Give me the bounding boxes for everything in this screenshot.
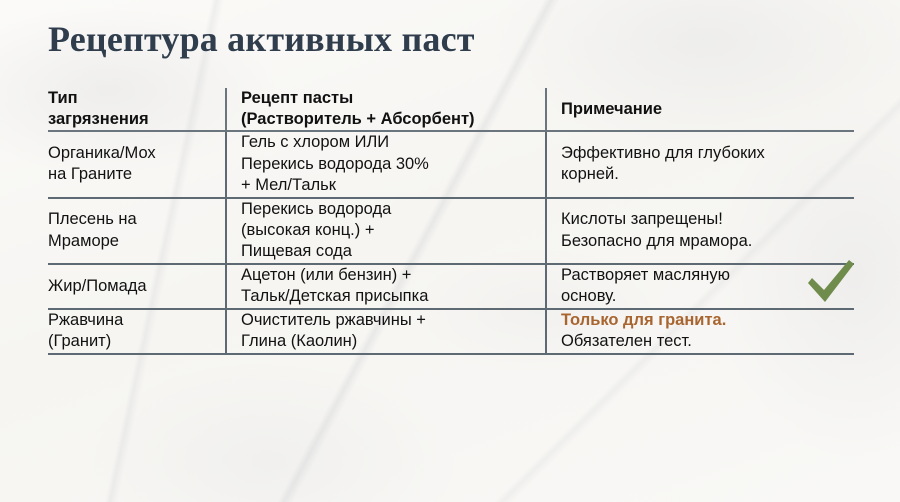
column-header-type-line1: Тип (48, 88, 211, 109)
cell-type: Плесень на Мраморе (48, 198, 226, 264)
cell-recipe: Очиститель ржавчины + Глина (Каолин) (226, 309, 546, 354)
recipes-table: Тип загрязнения Рецепт пасты (Растворите… (48, 88, 854, 355)
cell-recipe: Ацетон (или бензин) + Тальк/Детская прис… (226, 264, 546, 309)
table-header-row: Тип загрязнения Рецепт пасты (Растворите… (48, 88, 854, 131)
page-title: Рецептура активных паст (48, 18, 475, 60)
column-header-type: Тип загрязнения (48, 88, 226, 131)
cell-recipe: Перекись водорода (высокая конц.) + Пище… (226, 198, 546, 264)
column-header-type-line2: загрязнения (48, 109, 211, 130)
cell-note-line2: корней. (561, 164, 840, 185)
cell-type-line2: на Граните (48, 164, 211, 185)
cell-note-line2: основу. (561, 286, 840, 307)
column-header-note-line1: Примечание (561, 99, 840, 120)
table-header: Тип загрязнения Рецепт пасты (Растворите… (48, 88, 854, 131)
cell-note: Только для гранита. Обязателен тест. (546, 309, 854, 354)
table-row: Плесень на Мраморе Перекись водорода (вы… (48, 198, 854, 264)
column-header-note: Примечание (546, 88, 854, 131)
column-header-recipe-line1: Рецепт пасты (241, 88, 531, 109)
cell-type-line1: Ржавчина (48, 310, 211, 331)
cell-recipe-line2: Глина (Каолин) (241, 331, 531, 352)
cell-recipe-line2: Перекись водорода 30% (241, 154, 531, 175)
cell-recipe-line1: Ацетон (или бензин) + (241, 265, 531, 286)
column-header-recipe-line2: (Растворитель + Абсорбент) (241, 109, 531, 130)
cell-note-line2: Безопасно для мрамора. (561, 231, 840, 252)
cell-type-line1: Жир/Помада (48, 276, 211, 297)
cell-type: Ржавчина (Гранит) (48, 309, 226, 354)
cell-type-line1: Органика/Мох (48, 143, 211, 164)
cell-note-line1-highlight: Только для гранита. (561, 310, 840, 331)
cell-type: Жир/Помада (48, 264, 226, 309)
cell-type-line2: (Гранит) (48, 331, 211, 352)
cell-recipe-line1: Очиститель ржавчины + (241, 310, 531, 331)
cell-note-line1: Кислоты запрещены! (561, 209, 840, 230)
cell-note: Эффективно для глубоких корней. (546, 131, 854, 197)
cell-recipe-line3: Пищевая сода (241, 241, 531, 262)
cell-recipe: Гель с хлором ИЛИ Перекись водорода 30% … (226, 131, 546, 197)
table-body: Органика/Мох на Граните Гель с хлором ИЛ… (48, 131, 854, 353)
cell-note-line1: Растворяет масляную (561, 265, 840, 286)
cell-type: Органика/Мох на Граните (48, 131, 226, 197)
cell-recipe-line1: Перекись водорода (241, 199, 531, 220)
cell-type-line1: Плесень на (48, 209, 211, 230)
cell-note-line1: Эффективно для глубоких (561, 143, 840, 164)
page-background: Рецептура активных паст Тип загрязнения … (0, 0, 900, 502)
cell-type-line2: Мраморе (48, 231, 211, 252)
cell-recipe-line2: (высокая конц.) + (241, 220, 531, 241)
cell-note: Кислоты запрещены! Безопасно для мрамора… (546, 198, 854, 264)
cell-recipe-line3: + Мел/Тальк (241, 175, 531, 196)
table-row: Ржавчина (Гранит) Очиститель ржавчины + … (48, 309, 854, 354)
table-row: Органика/Мох на Граните Гель с хлором ИЛ… (48, 131, 854, 197)
column-header-recipe: Рецепт пасты (Растворитель + Абсорбент) (226, 88, 546, 131)
cell-recipe-line2: Тальк/Детская присыпка (241, 286, 531, 307)
cell-note-line2: Обязателен тест. (561, 331, 840, 352)
table-row: Жир/Помада Ацетон (или бензин) + Тальк/Д… (48, 264, 854, 309)
cell-recipe-line1: Гель с хлором ИЛИ (241, 132, 531, 153)
cell-note: Растворяет масляную основу. (546, 264, 854, 309)
